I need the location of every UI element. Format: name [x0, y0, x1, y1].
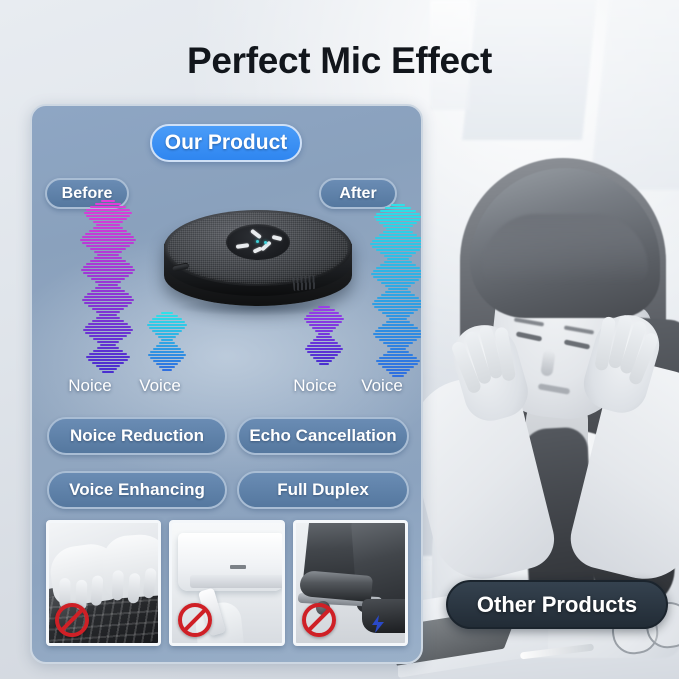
waveform-bar [319, 363, 329, 365]
thumbnail-typing-hands [46, 520, 161, 646]
thumbnail-shoes-chair [293, 520, 408, 646]
waveform-bar [372, 303, 423, 305]
waveform-bar [95, 287, 121, 289]
prohibition-icon [55, 603, 89, 637]
waveform-bar [95, 281, 121, 283]
waveform-bar [370, 243, 423, 245]
waveform-bar [89, 335, 127, 337]
waveform-bar [93, 221, 123, 223]
waveform-bar [310, 354, 338, 356]
finger [128, 573, 141, 604]
device-control-panel [226, 224, 290, 260]
waveform-bar [88, 359, 128, 361]
waveform-bar [382, 366, 414, 368]
our-product-badge: Our Product [150, 124, 302, 162]
waveform-bar [86, 263, 130, 265]
waveform-label-voice-before: Voice [120, 376, 200, 396]
waveform-bar [315, 330, 333, 332]
waveform-bar [96, 317, 120, 319]
status-led [264, 241, 267, 244]
waveform-bar [378, 363, 418, 365]
hand [101, 533, 161, 600]
waveform-bar [94, 251, 122, 253]
waveform-bar [382, 324, 414, 326]
waveform-bar [94, 257, 122, 259]
waveform-bar [97, 254, 119, 256]
waveform-bar [376, 360, 420, 362]
waveform-bar [316, 336, 332, 338]
waveform-bar [379, 339, 417, 341]
waveform-bar [309, 324, 339, 326]
waveform-bar [85, 332, 131, 334]
waveform-bar [374, 300, 422, 302]
waveform-bar [84, 212, 132, 214]
waveform-bar [90, 248, 126, 250]
waveform-label-voice-after: Voice [342, 376, 422, 396]
feature-pill-voice-enhancing: Voice Enhancing [47, 471, 227, 509]
waveform-bar [373, 270, 423, 272]
waveform-bar [305, 348, 343, 350]
waveform-label-noise-before: Noice [50, 376, 130, 396]
waveform-bar [93, 350, 123, 352]
waveform-bar [86, 245, 130, 247]
waveform-bar [386, 369, 410, 371]
waveform-bar [161, 312, 173, 314]
waveform-bar [380, 252, 416, 254]
waveform-noise-before [80, 200, 136, 374]
waveform-voice-after [370, 204, 423, 378]
waveform-bar [304, 318, 344, 320]
waveform-bar [162, 369, 172, 371]
blocked-noise-thumbnails [46, 520, 408, 646]
waveform-bar [93, 338, 123, 340]
waveform-bar [88, 305, 128, 307]
our-product-panel: Our Product Before After [30, 104, 423, 664]
waveform-bar [380, 210, 416, 212]
waveform-bar [159, 366, 175, 368]
feature-pill-noice-reduction: Noice Reduction [47, 417, 227, 455]
waveform-bar [383, 354, 413, 356]
waveform-bar [313, 309, 335, 311]
waveform-bar [156, 315, 178, 317]
waveform-bar [87, 275, 129, 277]
waveform-bar [91, 278, 125, 280]
waveform-bar [374, 216, 422, 218]
waveform-bar [386, 228, 410, 230]
waveform-voice-before [147, 312, 187, 372]
waveform-bar [379, 234, 417, 236]
waveform-bar [82, 236, 134, 238]
waveform-bar [100, 344, 116, 346]
waveform-bar [306, 321, 342, 323]
noise-bolt-icon [370, 615, 386, 633]
waveform-bar [91, 290, 125, 292]
waveform-bar [316, 360, 332, 362]
waveform-bar [383, 342, 413, 344]
waveform-bar [381, 294, 415, 296]
waveform-bar [102, 371, 114, 373]
hairline-shading [482, 214, 648, 284]
waveform-bar [384, 261, 412, 263]
waveform-bar [90, 206, 126, 208]
waveform-bar [150, 357, 184, 359]
waveform-bar [92, 362, 124, 364]
waveform-bar [384, 255, 412, 257]
waveform-bar [97, 347, 119, 349]
waveform-bar [89, 353, 127, 355]
waveform-bar [96, 311, 120, 313]
waveform-bar [313, 339, 335, 341]
waveform-bar [87, 293, 129, 295]
waveform-bar [82, 299, 134, 301]
waveform-bar [388, 288, 408, 290]
waveform-bar [383, 225, 413, 227]
waveform-bar [381, 282, 415, 284]
waveform-bar [318, 306, 330, 308]
prohibition-icon [302, 603, 336, 637]
status-led [256, 240, 259, 243]
waveform-bar [383, 231, 413, 233]
waveform-bar [380, 264, 416, 266]
waveform-bar [152, 318, 182, 320]
waveform-bar [387, 258, 409, 260]
waveform-bar [373, 333, 423, 335]
waveform-bar [387, 351, 409, 353]
waveform-bar [88, 323, 128, 325]
waveform-bar [371, 273, 423, 275]
waveform-bar [309, 312, 339, 314]
waveform-bar [83, 329, 133, 331]
waveform-bar [156, 345, 178, 347]
waveform-bar [96, 365, 120, 367]
display-panel [230, 565, 246, 569]
waveform-bar [373, 276, 423, 278]
waveform-bar [159, 342, 175, 344]
waveform-bar [313, 357, 335, 359]
waveform-bar [89, 218, 127, 220]
waveform-bar [99, 314, 117, 316]
waveform-bar [101, 200, 115, 202]
waveform-bar [81, 269, 135, 271]
waveform-bar [92, 308, 124, 310]
waveform-bar [376, 213, 420, 215]
thumbnail-air-conditioner [169, 520, 284, 646]
power-button-icon [272, 235, 283, 241]
product-marketing-image: Perfect Mic Effect Our Product Before Af… [0, 0, 679, 679]
waveform-bar [93, 227, 123, 229]
waveform-bar [375, 330, 421, 332]
waveform-bar [98, 284, 118, 286]
waveform-bar [389, 318, 407, 320]
waveform-bar [84, 302, 132, 304]
waveform-bar [83, 272, 133, 274]
air-conditioner-unit [178, 533, 284, 591]
waveform-bar [149, 321, 185, 323]
waveform-bar [389, 372, 407, 374]
waveform-bar [386, 321, 410, 323]
speaker-grille [292, 275, 315, 291]
waveform-bar [386, 315, 410, 317]
waveform-bar [378, 327, 418, 329]
waveform-bar [147, 324, 187, 326]
waveform-bar [99, 368, 117, 370]
waveform-bar [158, 336, 176, 338]
air-vent [190, 575, 284, 588]
waveform-bar [385, 291, 411, 293]
waveform-bar [372, 246, 423, 248]
waveform-bar [307, 351, 341, 353]
waveform-bar [376, 249, 420, 251]
frustrated-woman-photo [430, 128, 679, 598]
waveform-bar [148, 354, 186, 356]
waveform-bar [375, 237, 421, 239]
feature-pill-full-duplex: Full Duplex [237, 471, 409, 509]
waveform-bar [376, 267, 420, 269]
waveform-bar [85, 233, 131, 235]
waveform-bar [385, 285, 411, 287]
waveform-bar [385, 207, 411, 209]
waveform-bar [90, 260, 126, 262]
waveform-bar [97, 341, 119, 343]
waveform-bar [89, 230, 127, 232]
conference-speakerphone-device [150, 190, 366, 318]
waveform-bar [379, 222, 417, 224]
waveform-bar [379, 357, 417, 359]
waveform-bar [152, 330, 182, 332]
waveform-bar [86, 356, 130, 358]
waveform-bar [155, 333, 179, 335]
waveform-bar [318, 333, 330, 335]
waveform-bar [149, 327, 185, 329]
waveform-bar [372, 240, 423, 242]
waveform-bar [156, 363, 178, 365]
finger [143, 568, 157, 599]
waveform-bar [150, 351, 184, 353]
waveform-bar [377, 297, 419, 299]
other-products-badge: Other Products [446, 580, 668, 629]
waveform-bar [376, 219, 420, 221]
waveform-bar [161, 339, 173, 341]
waveform-bar [82, 242, 134, 244]
finger [112, 570, 124, 600]
waveform-bar [377, 279, 419, 281]
volume-up-icon [250, 229, 262, 240]
finger [90, 575, 103, 606]
waveform-bar [153, 360, 181, 362]
waveform-bar [306, 315, 342, 317]
page-title: Perfect Mic Effect [0, 40, 679, 82]
waveform-bar [95, 203, 121, 205]
waveform-bar [86, 209, 130, 211]
waveform-bar [387, 345, 409, 347]
waveform-bar [80, 239, 136, 241]
waveform-bar [83, 266, 133, 268]
waveform-bar [375, 336, 421, 338]
feature-pill-echo-cancellation: Echo Cancellation [237, 417, 409, 455]
waveform-bar [382, 312, 414, 314]
waveform-bar [96, 224, 120, 226]
call-button-icon [253, 246, 263, 253]
waveform-bar [86, 215, 130, 217]
waveform-bar [92, 320, 124, 322]
waveform-bar [390, 348, 406, 350]
waveform-bar [153, 348, 181, 350]
waveform-bar [310, 342, 338, 344]
waveform-bar [85, 326, 131, 328]
waveform-bar [374, 306, 422, 308]
waveform-bar [84, 296, 132, 298]
waveform-bar [391, 204, 405, 206]
waveform-bar [378, 309, 418, 311]
waveform-bar [312, 327, 336, 329]
waveform-noise-after [304, 306, 344, 366]
mute-button-icon [236, 243, 249, 249]
waveform-bar [307, 345, 341, 347]
